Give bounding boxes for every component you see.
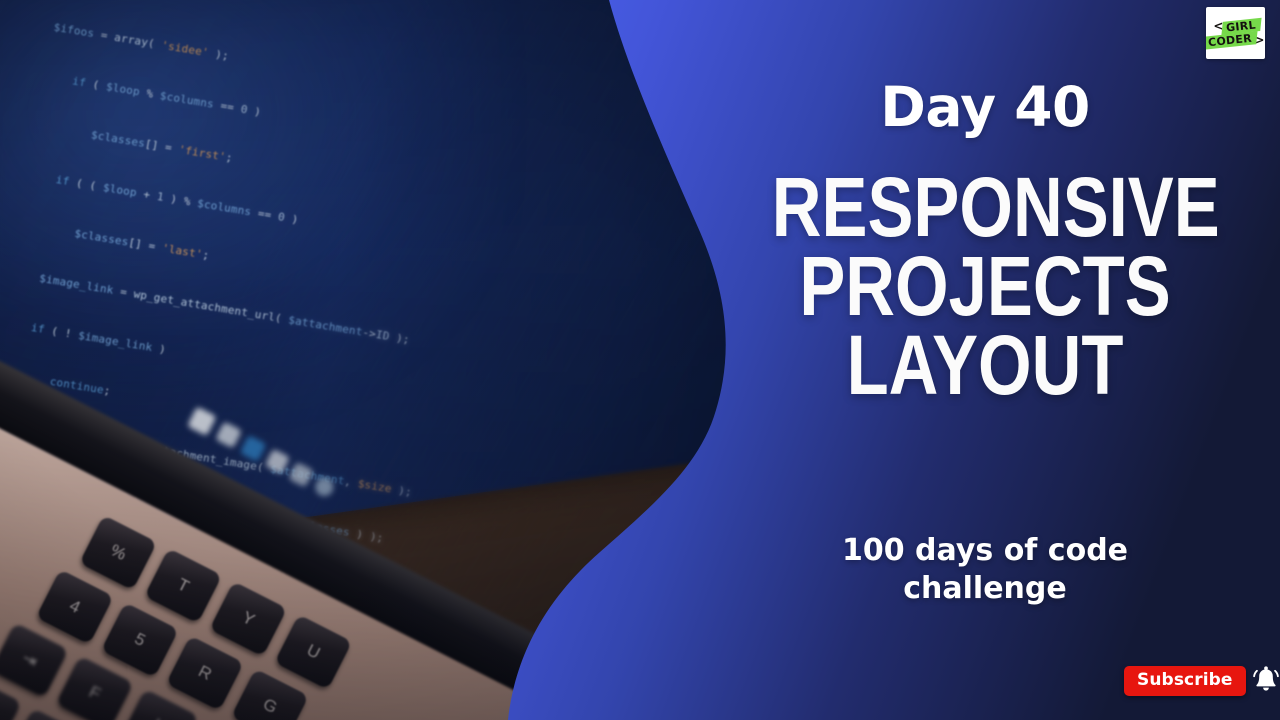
subscribe-button[interactable]: Subscribe	[1124, 666, 1246, 696]
title-line-1: RESPONSIVE	[772, 168, 1198, 247]
day-label: Day 40	[735, 80, 1235, 135]
logo-line-1: < GIRL	[1213, 20, 1257, 33]
thumbnail-canvas: $ifoos = array( 'sidee' ); if ( $loop % …	[0, 0, 1280, 720]
girl-coder-logo[interactable]: < GIRL CODER >	[1206, 7, 1265, 59]
notification-bell-icon[interactable]	[1249, 664, 1280, 698]
page-title: RESPONSIVE PROJECTS LAYOUT	[725, 168, 1245, 405]
logo-text-coder: CODER	[1208, 31, 1253, 49]
subtitle: 100 days of code challenge	[735, 532, 1235, 609]
title-line-2: PROJECTS	[772, 247, 1198, 326]
title-line-3: LAYOUT	[772, 326, 1198, 405]
subtitle-line-2: challenge	[735, 570, 1235, 608]
subscribe-cta[interactable]: Subscribe	[1124, 664, 1280, 698]
subtitle-line-1: 100 days of code	[735, 532, 1235, 570]
logo-line-2: CODER >	[1206, 34, 1264, 47]
hero-text-block: Day 40 RESPONSIVE PROJECTS LAYOUT 100 da…	[735, 0, 1235, 720]
